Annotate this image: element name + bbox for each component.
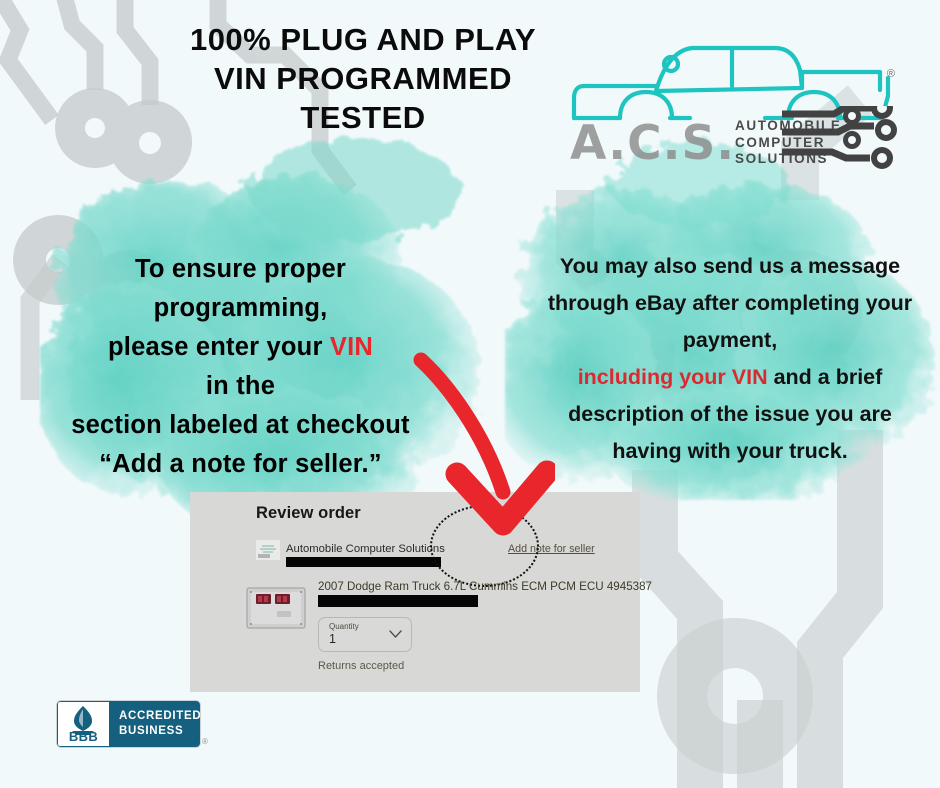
bbb-line-2: BUSINESS (119, 724, 200, 739)
headline-line-2: VIN PROGRAMMED (108, 59, 618, 98)
bbb-text-panel: ACCREDITED BUSINESS (110, 701, 200, 747)
review-order-title: Review order (256, 504, 361, 523)
teal-splash-accent-top (235, 120, 475, 250)
copy-left-line-2: programming, (28, 289, 453, 328)
vin-highlight-left: VIN (330, 333, 373, 361)
copy-right-line-1: You may also send us a message (540, 248, 920, 285)
quantity-label: Quantity (329, 622, 359, 631)
copy-right-line-2: through eBay after completing your (540, 285, 920, 322)
chevron-down-icon (389, 630, 402, 639)
redacted-bar-price (318, 595, 478, 607)
poster-canvas: 100% PLUG AND PLAY VIN PROGRAMMED TESTED (0, 0, 940, 788)
headline-line-1: 100% PLUG AND PLAY (108, 20, 618, 59)
copy-left-line-3-text: please enter your (108, 333, 330, 361)
instruction-text-right: You may also send us a message through e… (540, 248, 920, 470)
instruction-text-left: To ensure proper programming, please ent… (28, 250, 453, 484)
copy-left-line-5: section labeled at checkout (28, 406, 453, 445)
copy-right-line-4-rest: and a brief (768, 365, 883, 389)
quantity-select[interactable]: Quantity 1 (318, 617, 412, 652)
product-title[interactable]: 2007 Dodge Ram Truck 6.7L Cummins ECM PC… (318, 580, 652, 593)
circuit-nodes-icon (782, 106, 912, 176)
copy-left-line-3: please enter your VIN (28, 328, 453, 367)
logo-acs-text: A.C.S. (570, 116, 735, 171)
seller-logo-thumbnail (256, 540, 280, 560)
returns-accepted-text: Returns accepted (318, 660, 404, 672)
copy-left-line-6: “Add a note for seller.” (28, 445, 453, 484)
product-image-ecm-module (245, 584, 307, 634)
bbb-logo-panel: BBB (57, 701, 110, 747)
headline-line-3: TESTED (108, 98, 618, 137)
copy-right-line-3: payment, (540, 322, 920, 359)
bbb-accredited-business-badge[interactable]: BBB ACCREDITED BUSINESS (57, 701, 200, 747)
redacted-bar-seller (286, 557, 441, 567)
seller-name: Automobile Computer Solutions (286, 543, 445, 555)
copy-right-line-4: including your VIN and a brief (540, 359, 920, 396)
bbb-letters: BBB (58, 729, 109, 744)
quantity-value: 1 (329, 632, 336, 646)
acs-logo: A.C.S. AUTOMOBILE COMPUTER SOLUTIONS (560, 28, 910, 173)
headline: 100% PLUG AND PLAY VIN PROGRAMMED TESTED (108, 20, 618, 137)
registered-trademark-icon: ® (887, 68, 895, 80)
red-curved-arrow-icon (405, 352, 555, 537)
vin-highlight-right: including your VIN (578, 365, 768, 389)
bbb-registered-symbol: ® (202, 737, 208, 746)
copy-left-line-4: in the (28, 367, 453, 406)
bbb-line-1: ACCREDITED (119, 709, 200, 724)
copy-right-line-6: having with your truck. (540, 433, 920, 470)
copy-right-line-5: description of the issue you are (540, 396, 920, 433)
copy-left-line-1: To ensure proper (28, 250, 453, 289)
